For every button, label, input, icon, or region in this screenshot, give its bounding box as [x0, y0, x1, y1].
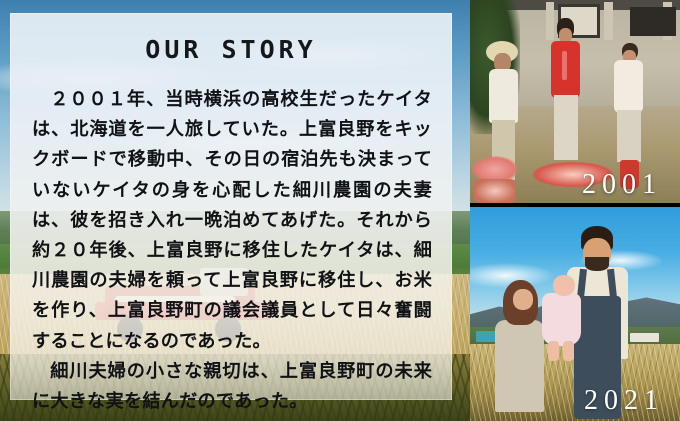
flower-bed	[474, 179, 516, 203]
photo-column: 2001	[470, 0, 680, 421]
story-text: ２００１年、当時横浜の高校生だったケイタは、北海道を一人旅していた。上富良野をキ…	[32, 85, 432, 417]
photo-2001[interactable]: 2001	[470, 0, 680, 203]
story-paragraph: ２００１年、当時横浜の高校生だったケイタは、北海道を一人旅していた。上富良野をキ…	[32, 85, 432, 357]
story-banner: OUR STORY ２００１年、当時横浜の高校生だったケイタは、北海道を一人旅し…	[0, 0, 680, 421]
page-title: OUR STORY	[10, 35, 452, 64]
person-young-man-red-shirt	[550, 18, 605, 180]
photo-2021[interactable]: 2021	[470, 207, 680, 421]
flower-bed	[533, 162, 613, 186]
person-baby	[537, 275, 587, 361]
person-woman	[613, 43, 668, 189]
story-panel: OUR STORY ２００１年、当時横浜の高校生だったケイタは、北海道を一人旅し…	[10, 13, 452, 400]
story-paragraph: 細川夫婦の小さな親切は、上富良野町の未来に大きな実を結んだのであった。	[32, 357, 432, 417]
